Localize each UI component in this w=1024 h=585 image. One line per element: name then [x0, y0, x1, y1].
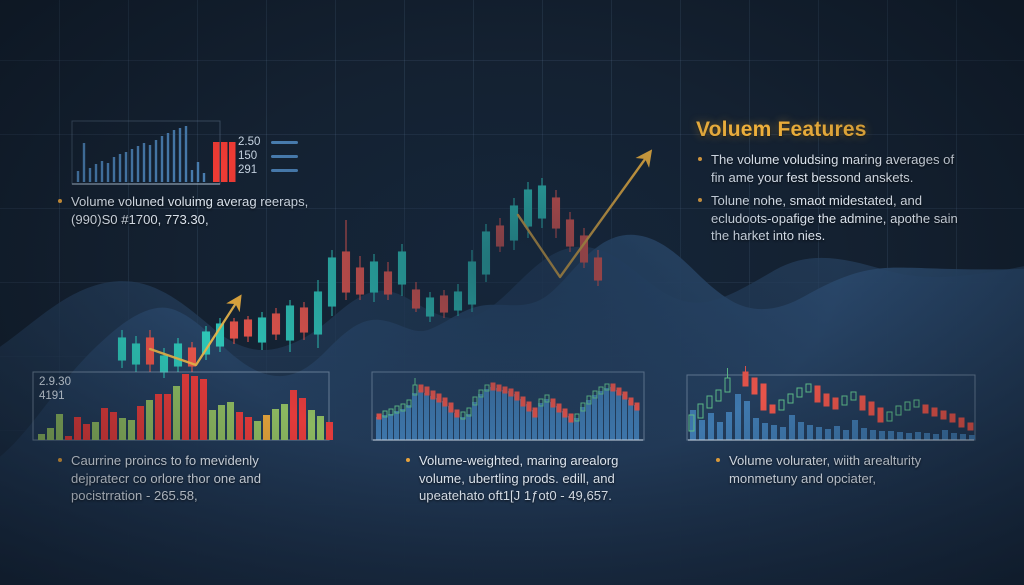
infographic-canvas: 2.50 150 291 Volume voluned voluimg aver…	[0, 0, 1024, 585]
bottom-right-caption: Volume volurater, wiith arealturity monm…	[714, 452, 966, 487]
bottom-right-caption-block: Volume volurater, wiith arealturity monm…	[714, 452, 966, 493]
bottom-right-chart	[0, 0, 1024, 585]
